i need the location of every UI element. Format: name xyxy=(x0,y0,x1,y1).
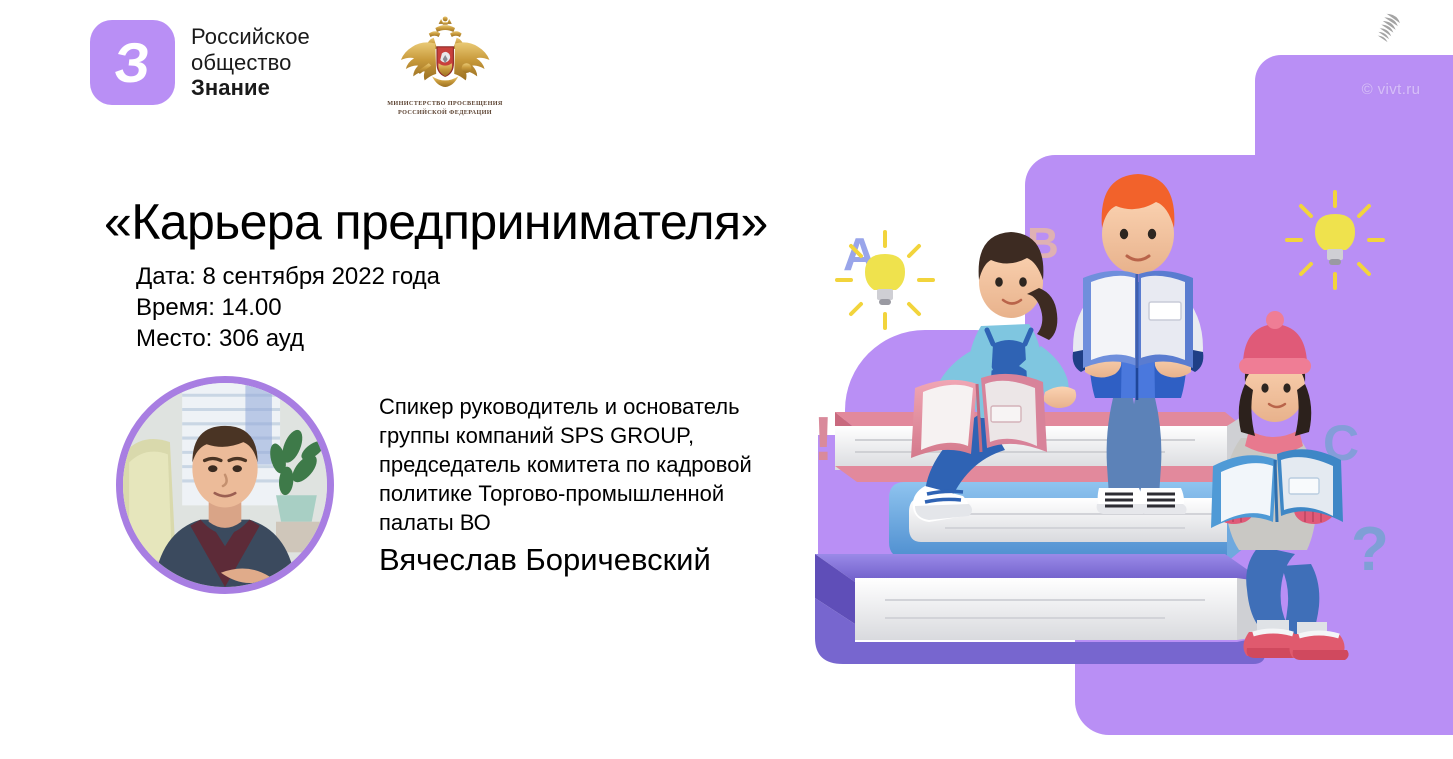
decor-question: ? xyxy=(1351,515,1389,584)
znanie-line-3: Знание xyxy=(191,75,310,101)
znanie-z-glyph: З xyxy=(86,20,180,105)
watermark: © vivt.ru xyxy=(1343,6,1439,102)
speaker-name: Вячеслав Боричевский xyxy=(379,540,711,580)
ministry-caption-line-1: МИНИСТЕРСТВО ПРОСВЕЩЕНИЯ xyxy=(360,100,530,109)
lightbulb-icon-left xyxy=(837,232,933,328)
event-place: Место: 306 ауд xyxy=(136,323,440,354)
decor-exclamation: ! xyxy=(813,405,834,474)
presentation-slide: З Российское общество Знание xyxy=(0,0,1453,759)
vivt-logo-icon xyxy=(1343,6,1439,76)
znanie-line-2: общество xyxy=(191,50,310,76)
event-meta: Дата: 8 сентября 2022 года Время: 14.00 … xyxy=(136,261,440,354)
lightbulb-icon-right xyxy=(1287,192,1383,288)
event-date: Дата: 8 сентября 2022 года xyxy=(136,261,440,292)
event-time: Время: 14.00 xyxy=(136,292,440,323)
watermark-url: © vivt.ru xyxy=(1343,81,1439,98)
znanie-wordmark: Российское общество Знание xyxy=(191,24,310,102)
ministry-caption: МИНИСТЕРСТВО ПРОСВЕЩЕНИЯ РОССИЙСКОЙ ФЕДЕ… xyxy=(360,100,530,118)
speaker-description: Спикер руководитель и основатель группы … xyxy=(379,392,799,537)
znanie-line-1: Российское xyxy=(191,24,310,50)
ministry-logo: МИНИСТЕРСТВО ПРОСВЕЩЕНИЯ РОССИЙСКОЙ ФЕДЕ… xyxy=(360,14,530,118)
double-headed-eagle-icon xyxy=(396,14,494,96)
speaker-photo xyxy=(116,376,334,594)
page-title: «Карьера предпринимателя» xyxy=(104,193,768,251)
znanie-logo: З Российское общество Знание xyxy=(90,20,310,105)
ministry-caption-line-2: РОССИЙСКОЙ ФЕДЕРАЦИИ xyxy=(360,109,530,118)
znanie-mark-icon: З xyxy=(90,20,175,105)
book-stack xyxy=(815,412,1265,664)
illustration-svg: A B C ! ? xyxy=(795,130,1453,690)
students-illustration: A B C ! ? xyxy=(795,130,1453,690)
header-logos: З Российское общество Знание xyxy=(0,0,560,135)
portrait-illustration xyxy=(123,383,327,587)
